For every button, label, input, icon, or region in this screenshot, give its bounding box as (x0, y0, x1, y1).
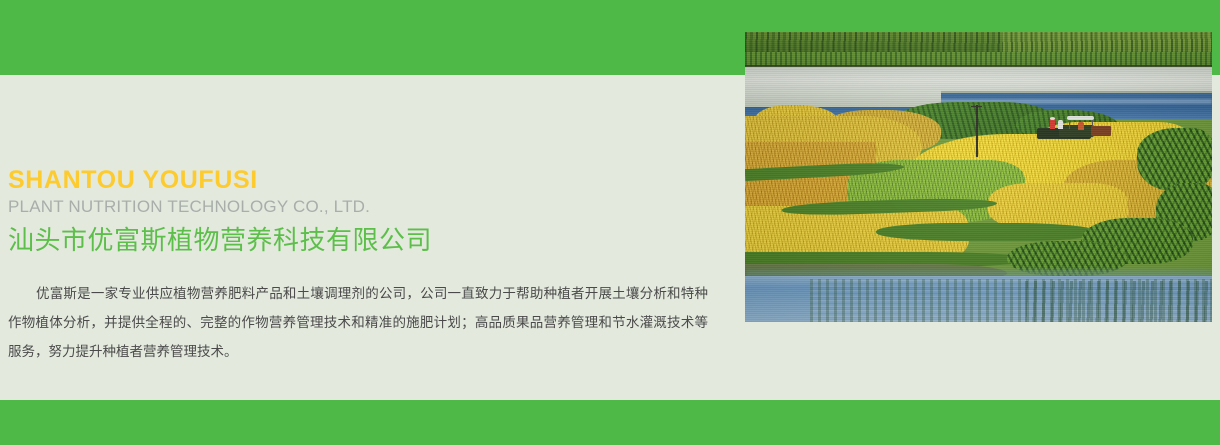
hero-photo (745, 32, 1212, 322)
photo-channel-bank-left (745, 90, 941, 107)
harvester-canopy (1067, 116, 1094, 120)
photo-field-ridge-c (876, 223, 1100, 240)
photo-utility-pole-arm (971, 106, 982, 108)
photo-farmer-orange-shirt (1078, 122, 1084, 130)
photo-farmer-red-shirt (1050, 119, 1056, 128)
brand-name-chinese: 汕头市优富斯植物营养科技有限公司 (8, 224, 728, 258)
harvester-cab-base (1059, 125, 1094, 137)
harvester-trailer (1091, 126, 1112, 136)
brand-name-english: SHANTOU YOUFUSI (8, 165, 728, 195)
photo-utility-pole (976, 105, 978, 157)
photo-canvas (745, 32, 1212, 322)
photo-harvester (1037, 115, 1116, 144)
company-intro-paragraph: 优富斯是一家专业供应植物营养肥料产品和土壤调理剂的公司，公司一直致力于帮助种植者… (8, 280, 708, 367)
photo-pond-reflections-right (1025, 281, 1212, 322)
harvester-canopy-post-left (1069, 120, 1071, 129)
page-root: SHANTOU YOUFUSI PLANT NUTRITION TECHNOLO… (0, 0, 1220, 445)
left-content-column: SHANTOU YOUFUSI PLANT NUTRITION TECHNOLO… (0, 75, 745, 400)
photo-farmer-white-shirt (1058, 120, 1064, 129)
brand-block: SHANTOU YOUFUSI PLANT NUTRITION TECHNOLO… (8, 165, 728, 258)
brand-subtitle-english: PLANT NUTRITION TECHNOLOGY CO., LTD. (8, 196, 728, 218)
photo-bush-right-upper (1137, 128, 1212, 192)
bottom-green-band (0, 400, 1220, 445)
